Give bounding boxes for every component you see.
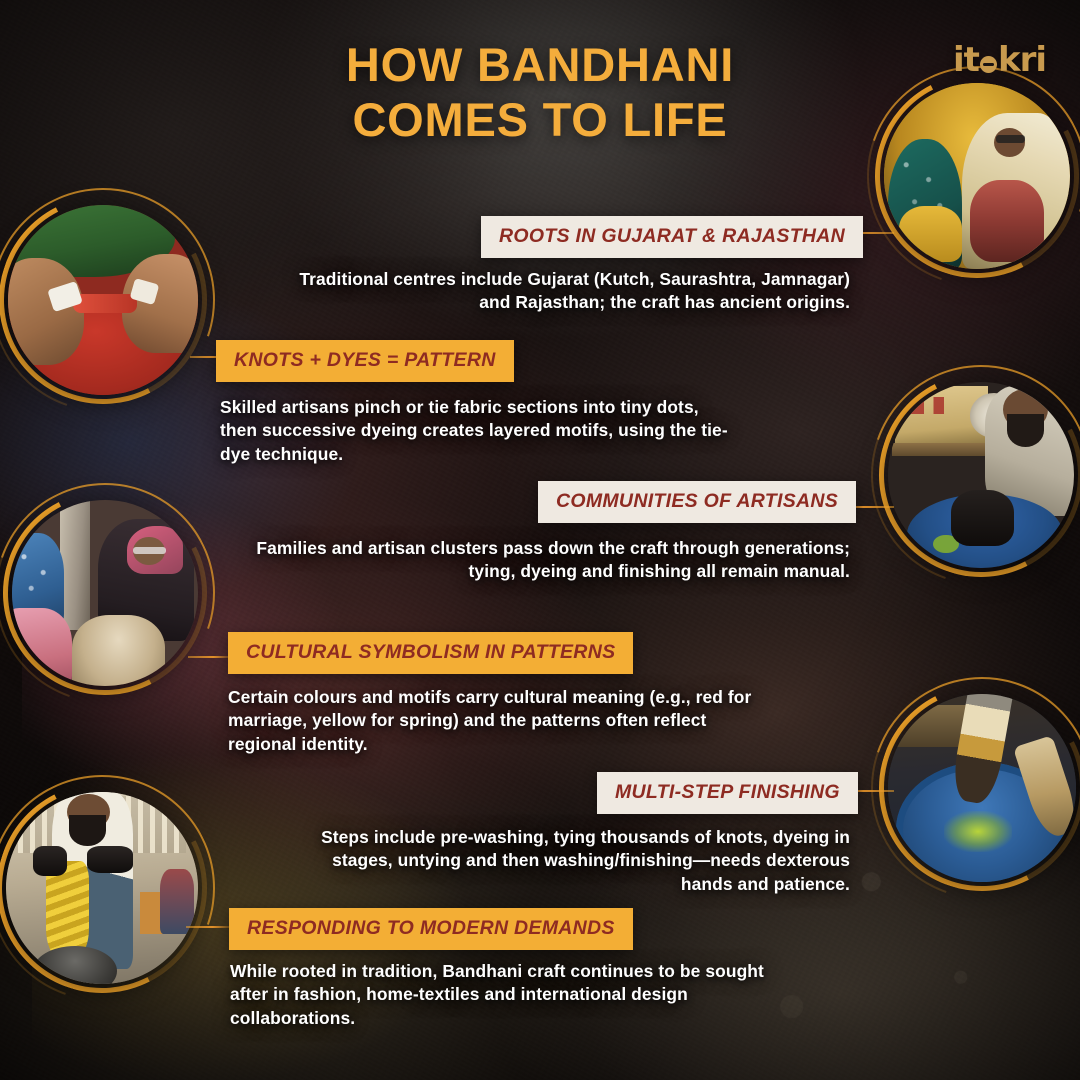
artisan-dyeing-gloves-photo [888,382,1074,568]
artisan-women-seated-photo [12,500,198,686]
section-body-cultural-symbolism-in-patterns: Certain colours and motifs carry cultura… [228,686,768,756]
photo-5-art [888,694,1076,882]
section-body-communities-of-artisans: Families and artisan clusters pass down … [240,537,850,584]
section-label-knots-dyes-pattern: KNOTS + DYES = PATTERN [216,340,514,382]
logo-basket-icon [980,56,997,73]
photo-3-art [12,500,198,686]
photo-2-art [8,205,198,395]
page-title: HOW BANDHANI COMES TO LIFE [0,38,1080,147]
section-body-roots-in-gujarat-rajasthan: Traditional centres include Gujarat (Kut… [270,268,850,315]
itokri-logo[interactable]: it kri [953,40,1046,80]
photo-6-art [6,792,198,984]
logo-text-lead: it [953,40,979,80]
section-label-roots-in-gujarat-rajasthan: ROOTS IN GUJARAT & RAJASTHAN [481,216,863,258]
section-body-multi-step-finishing: Steps include pre-washing, tying thousan… [310,826,850,896]
artisan-yellow-skein-photo [6,792,198,984]
page-title-line-1: HOW BANDHANI [346,38,734,91]
connector-line-6 [186,926,234,928]
hands-tying-red-fabric-photo [8,205,198,395]
section-label-responding-to-modern-demands: RESPONDING TO MODERN DEMANDS [229,908,633,950]
logo-text-tail: kri [998,40,1046,80]
page-title-line-2: COMES TO LIFE [0,93,1080,148]
section-label-communities-of-artisans: COMMUNITIES OF ARTISANS [538,481,856,523]
section-label-multi-step-finishing: MULTI-STEP FINISHING [597,772,858,814]
section-body-knots-dyes-pattern: Skilled artisans pinch or tie fabric sec… [220,396,740,466]
section-body-responding-to-modern-demands: While rooted in tradition, Bandhani craf… [230,960,790,1030]
indigo-vat-dipping-photo [888,694,1076,882]
section-label-cultural-symbolism-in-patterns: CULTURAL SYMBOLISM IN PATTERNS [228,632,633,674]
photo-4-art [888,382,1074,568]
